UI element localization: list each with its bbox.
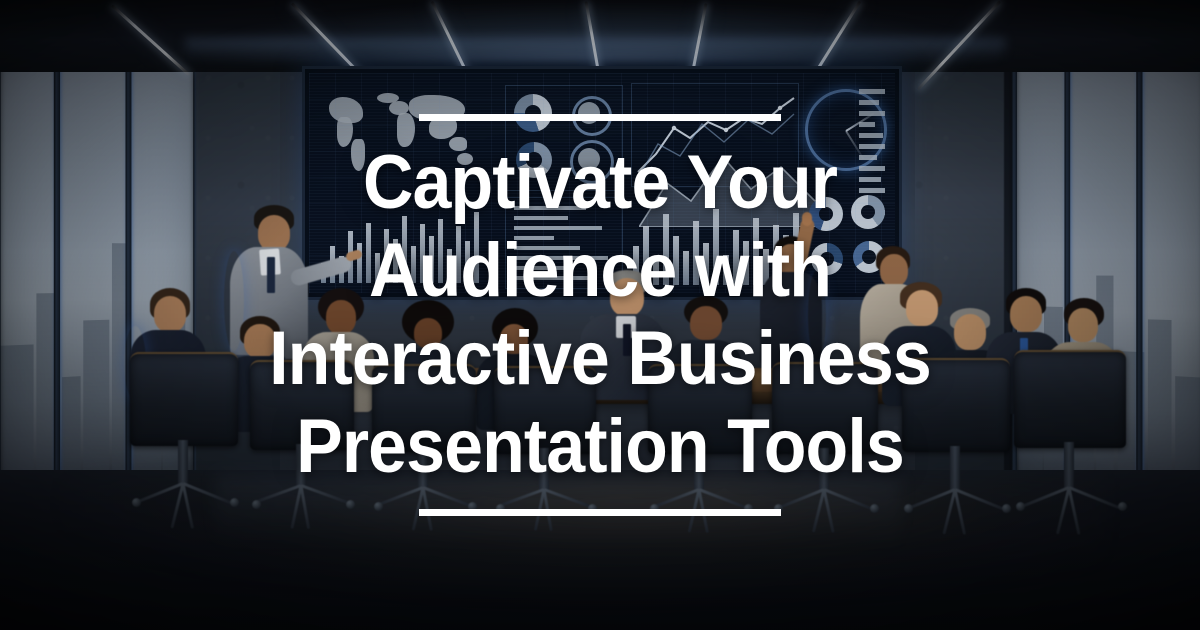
divider-top xyxy=(419,114,781,121)
hero-banner: Captivate Your Audience with Interactive… xyxy=(0,0,1200,630)
page-title: Captivate Your Audience with Interactive… xyxy=(48,139,1152,491)
divider-bottom xyxy=(419,509,781,516)
hero-text-overlay: Captivate Your Audience with Interactive… xyxy=(0,0,1200,630)
